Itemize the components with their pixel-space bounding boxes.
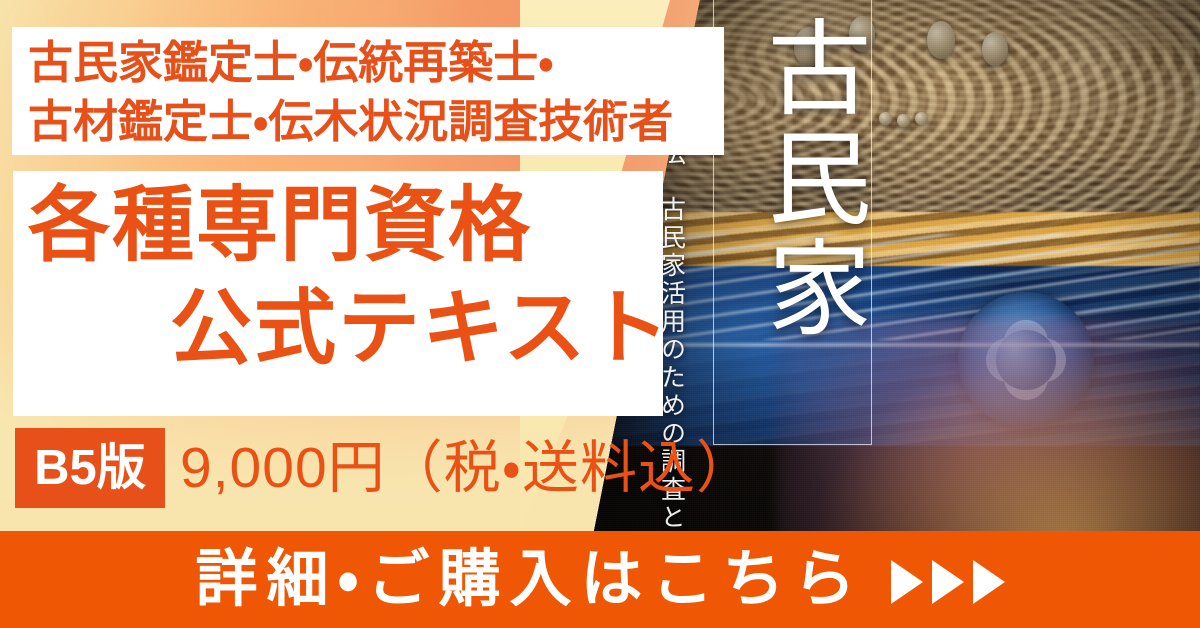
triangle-right-icon [932, 560, 964, 604]
qualifications-headline: 古民家鑑定士・伝統再築士・ 古材鑑定士・伝木状況調査技術者 [28, 34, 728, 152]
format-badge: B5版 [15, 428, 165, 508]
cta-label: 詳細・ご購入はこちら [195, 549, 864, 611]
triangle-right-icon [973, 560, 1005, 604]
main-title-line-2: 公式テキスト [170, 288, 672, 370]
book-cover-title: 古民家 [718, 14, 866, 344]
cta-arrows [891, 560, 1005, 604]
headline-line-1: 古民家鑑定士・伝統再築士・ [28, 34, 728, 93]
headline-line-2: 古材鑑定士・伝木状況調査技術者 [28, 93, 728, 152]
promo-banner: 古民家 伝統構法 古民家活用のための調査と再生の 古民家鑑定士・伝統再築士・ 古… [0, 0, 1200, 628]
main-title-line-1: 各種専門資格 [28, 185, 532, 267]
price-text: 9,000円（税・送料込） [180, 432, 754, 504]
cta-button[interactable]: 詳細・ご購入はこちら [0, 531, 1200, 628]
triangle-right-icon [891, 560, 923, 604]
